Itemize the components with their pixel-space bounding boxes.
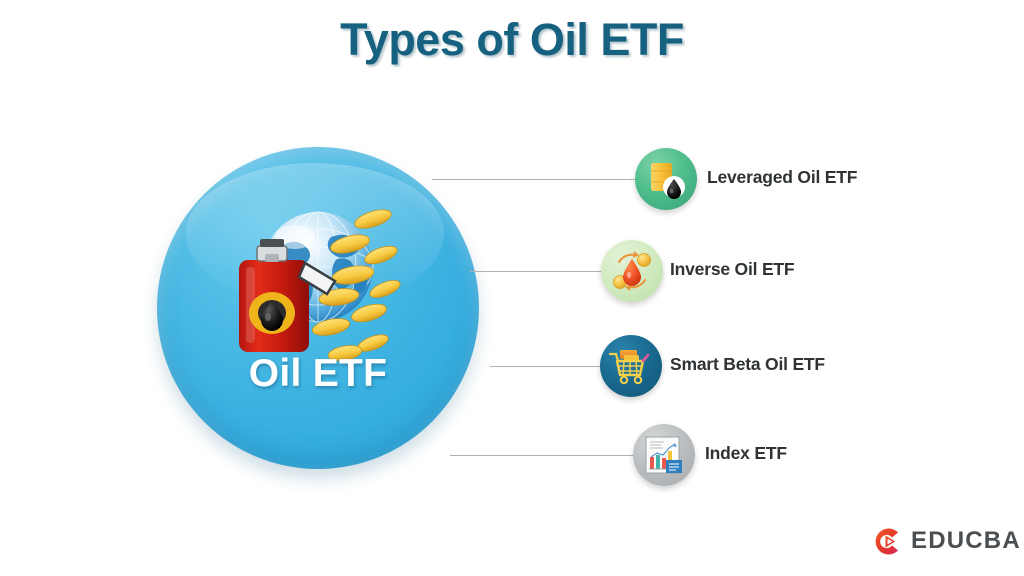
branch-label: Smart Beta Oil ETF xyxy=(670,354,825,375)
educba-play-circle-logo xyxy=(872,526,903,557)
educba-wordmark: EDUCBA xyxy=(911,527,1021,555)
shopping-cart-icon[interactable] xyxy=(600,335,662,397)
branch-smart-beta-oil-etf[interactable]: Smart Beta Oil ETF xyxy=(490,334,910,398)
branch-label: Inverse Oil ETF xyxy=(670,259,794,280)
educba-logo[interactable]: EDUCBA xyxy=(872,524,1021,558)
bar-chart-report-icon[interactable] xyxy=(633,424,695,486)
branch-label: Index ETF xyxy=(705,443,787,464)
hub-label: Oil ETF xyxy=(157,352,479,396)
connector-line xyxy=(490,366,602,367)
oil-barrel-drop-icon[interactable] xyxy=(635,148,697,210)
branch-leveraged-oil-etf[interactable]: Leveraged Oil ETF xyxy=(432,147,902,211)
central-hub-circle: Oil ETF xyxy=(157,147,479,469)
oil-drop-recycle-coins-icon[interactable] xyxy=(601,240,663,302)
connector-line xyxy=(450,455,635,456)
page-title: Types of Oil ETF xyxy=(0,14,1024,66)
connector-line xyxy=(470,271,603,272)
branch-index-etf[interactable]: Index ETF xyxy=(450,423,900,487)
branch-inverse-oil-etf[interactable]: Inverse Oil ETF xyxy=(470,239,900,303)
connector-line xyxy=(432,179,637,180)
branch-label: Leveraged Oil ETF xyxy=(707,167,857,188)
